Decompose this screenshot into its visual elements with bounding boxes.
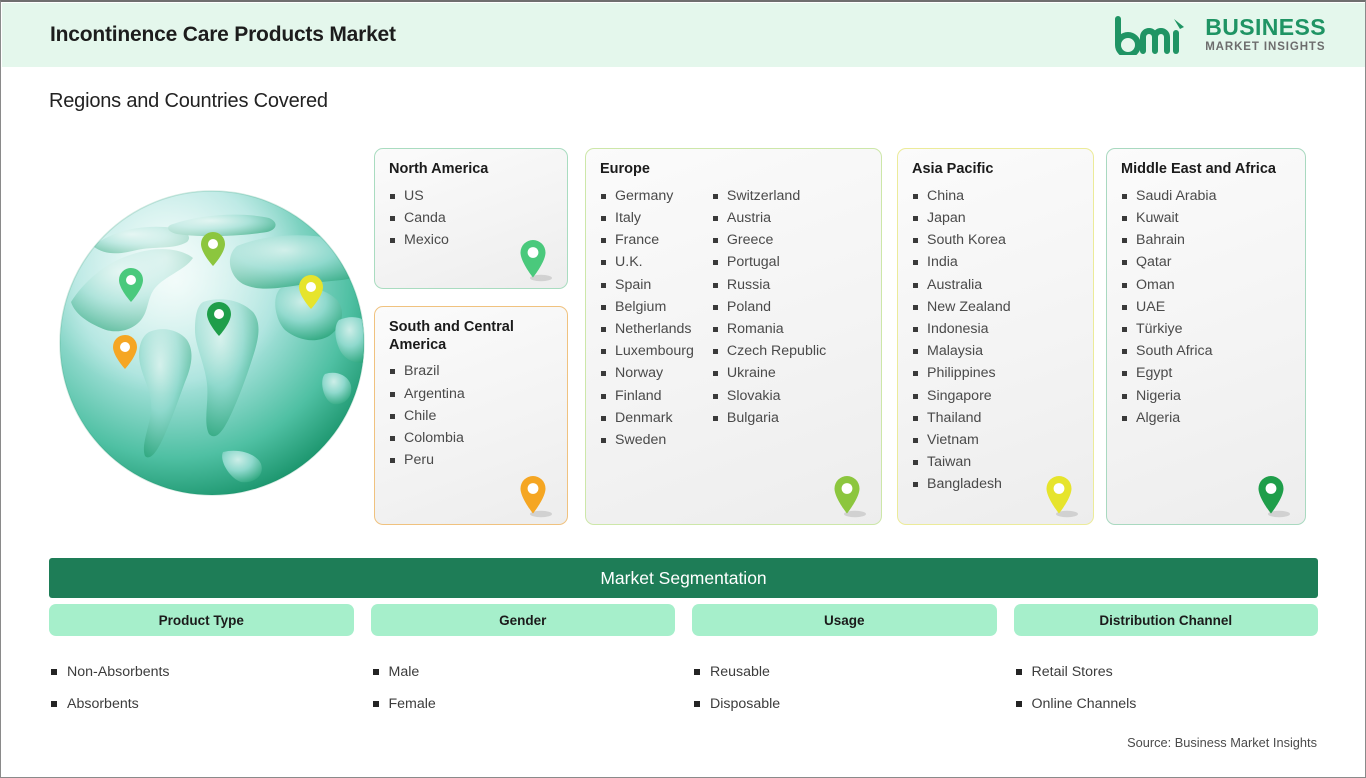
region-title: Europe — [600, 161, 867, 179]
list-item: Germany — [600, 185, 694, 207]
list-item: Poland — [712, 296, 826, 318]
segmentation-column-distribution-channel: Distribution Channel Retail Stores Onlin… — [1014, 604, 1319, 720]
region-title: Middle East and Africa — [1121, 161, 1291, 179]
page-title: Incontinence Care Products Market — [50, 23, 396, 47]
list-item: Absorbents — [49, 688, 354, 720]
segmentation-item-list: Male Female — [371, 656, 676, 720]
list-item: Japan — [912, 207, 1011, 229]
market-segmentation-label: Market Segmentation — [600, 568, 766, 589]
list-item: Czech Republic — [712, 340, 826, 362]
list-item: India — [912, 251, 1011, 273]
logo-wordmark: BUSINESS MARKET INSIGHTS — [1205, 16, 1326, 54]
list-item: Mexico — [389, 229, 449, 251]
segmentation-columns: Product Type Non-Absorbents Absorbents G… — [49, 604, 1318, 720]
list-item: U.K. — [600, 251, 694, 273]
list-item: US — [389, 185, 449, 207]
list-item: Bangladesh — [912, 473, 1011, 495]
region-title: North America — [389, 161, 553, 179]
list-item: Egypt — [1121, 362, 1216, 384]
region-card-europe[interactable]: Europe Germany Italy France U.K. Spain B… — [585, 148, 882, 525]
segmentation-item-list: Retail Stores Online Channels — [1014, 656, 1319, 720]
segmentation-column-product-type: Product Type Non-Absorbents Absorbents — [49, 604, 354, 720]
segmentation-item-list: Reusable Disposable — [692, 656, 997, 720]
list-item: France — [600, 229, 694, 251]
list-item: Malaysia — [912, 340, 1011, 362]
region-card-north-america[interactable]: North America US Canda Mexico — [374, 148, 568, 289]
list-item: Philippines — [912, 362, 1011, 384]
list-item: Canda — [389, 207, 449, 229]
segmentation-item-list: Non-Absorbents Absorbents — [49, 656, 354, 720]
region-card-asia-pacific[interactable]: Asia Pacific China Japan South Korea Ind… — [897, 148, 1094, 525]
list-item: Reusable — [692, 656, 997, 688]
source-note: Source: Business Market Insights — [1127, 735, 1317, 750]
header-bar: Incontinence Care Products Market BUSINE… — [2, 3, 1366, 67]
region-card-south-and-central-america[interactable]: South and Central America Brazil Argenti… — [374, 306, 568, 525]
list-item: Italy — [600, 207, 694, 229]
country-list-column-2: Switzerland Austria Greece Portugal Russ… — [712, 185, 826, 451]
list-item: Disposable — [692, 688, 997, 720]
world-globe-illustration — [53, 184, 371, 502]
country-list: Brazil Argentina Chile Colombia Peru — [389, 360, 465, 471]
list-item: UAE — [1121, 296, 1216, 318]
country-list: Saudi Arabia Kuwait Bahrain Qatar Oman U… — [1121, 185, 1216, 429]
list-item: Norway — [600, 362, 694, 384]
list-item: Bahrain — [1121, 229, 1216, 251]
list-item: South Korea — [912, 229, 1011, 251]
map-pin-middle-east-africa-icon — [1257, 474, 1291, 518]
list-item: Austria — [712, 207, 826, 229]
list-item: Belgium — [600, 296, 694, 318]
list-item: Chile — [389, 405, 465, 427]
list-item: Kuwait — [1121, 207, 1216, 229]
list-item: Slovakia — [712, 385, 826, 407]
list-item: Ukraine — [712, 362, 826, 384]
bmi-logo-icon — [1110, 15, 1196, 55]
section-title: Regions and Countries Covered — [49, 90, 328, 113]
list-item: Luxembourg — [600, 340, 694, 362]
list-item: Qatar — [1121, 251, 1216, 273]
logo-line-1: BUSINESS — [1205, 16, 1326, 39]
list-item: Romania — [712, 318, 826, 340]
list-item: Taiwan — [912, 451, 1011, 473]
segmentation-header: Gender — [371, 604, 676, 636]
country-list: US Canda Mexico — [389, 185, 449, 252]
list-item: Nigeria — [1121, 385, 1216, 407]
logo-line-2: MARKET INSIGHTS — [1205, 42, 1326, 54]
list-item: Greece — [712, 229, 826, 251]
list-item: Male — [371, 656, 676, 688]
list-item: Finland — [600, 385, 694, 407]
list-item: Argentina — [389, 383, 465, 405]
map-pin-europe-icon — [833, 474, 867, 518]
list-item: Indonesia — [912, 318, 1011, 340]
list-item: Sweden — [600, 429, 694, 451]
region-title: South and Central America — [389, 319, 553, 354]
map-pin-south-america-icon — [519, 474, 553, 518]
segmentation-header: Distribution Channel — [1014, 604, 1319, 636]
list-item: Brazil — [389, 360, 465, 382]
list-item: Peru — [389, 449, 465, 471]
map-pin-north-america-icon — [519, 238, 553, 282]
list-item: Switzerland — [712, 185, 826, 207]
list-item: Non-Absorbents — [49, 656, 354, 688]
list-item: Online Channels — [1014, 688, 1319, 720]
segmentation-header: Product Type — [49, 604, 354, 636]
list-item: South Africa — [1121, 340, 1216, 362]
list-item: Retail Stores — [1014, 656, 1319, 688]
map-pin-asia-pacific-icon — [1045, 474, 1079, 518]
region-title: Asia Pacific — [912, 161, 1079, 179]
list-item: Netherlands — [600, 318, 694, 340]
list-item: Türkiye — [1121, 318, 1216, 340]
list-item: Algeria — [1121, 407, 1216, 429]
region-card-middle-east-and-africa[interactable]: Middle East and Africa Saudi Arabia Kuwa… — [1106, 148, 1306, 525]
list-item: Australia — [912, 274, 1011, 296]
list-item: Female — [371, 688, 676, 720]
list-item: Colombia — [389, 427, 465, 449]
list-item: Portugal — [712, 251, 826, 273]
country-list: China Japan South Korea India Australia … — [912, 185, 1011, 496]
list-item: Oman — [1121, 274, 1216, 296]
list-item: Bulgaria — [712, 407, 826, 429]
list-item: Denmark — [600, 407, 694, 429]
brand-logo: BUSINESS MARKET INSIGHTS — [1110, 15, 1326, 55]
list-item: China — [912, 185, 1011, 207]
list-item: Vietnam — [912, 429, 1011, 451]
list-item: New Zealand — [912, 296, 1011, 318]
list-item: Singapore — [912, 385, 1011, 407]
segmentation-header: Usage — [692, 604, 997, 636]
segmentation-column-usage: Usage Reusable Disposable — [692, 604, 997, 720]
list-item: Saudi Arabia — [1121, 185, 1216, 207]
infographic-slide: Incontinence Care Products Market BUSINE… — [0, 0, 1366, 778]
list-item: Spain — [600, 274, 694, 296]
country-list-column-1: Germany Italy France U.K. Spain Belgium … — [600, 185, 694, 451]
market-segmentation-bar: Market Segmentation — [49, 558, 1318, 598]
list-item: Russia — [712, 274, 826, 296]
list-item: Thailand — [912, 407, 1011, 429]
segmentation-column-gender: Gender Male Female — [371, 604, 676, 720]
